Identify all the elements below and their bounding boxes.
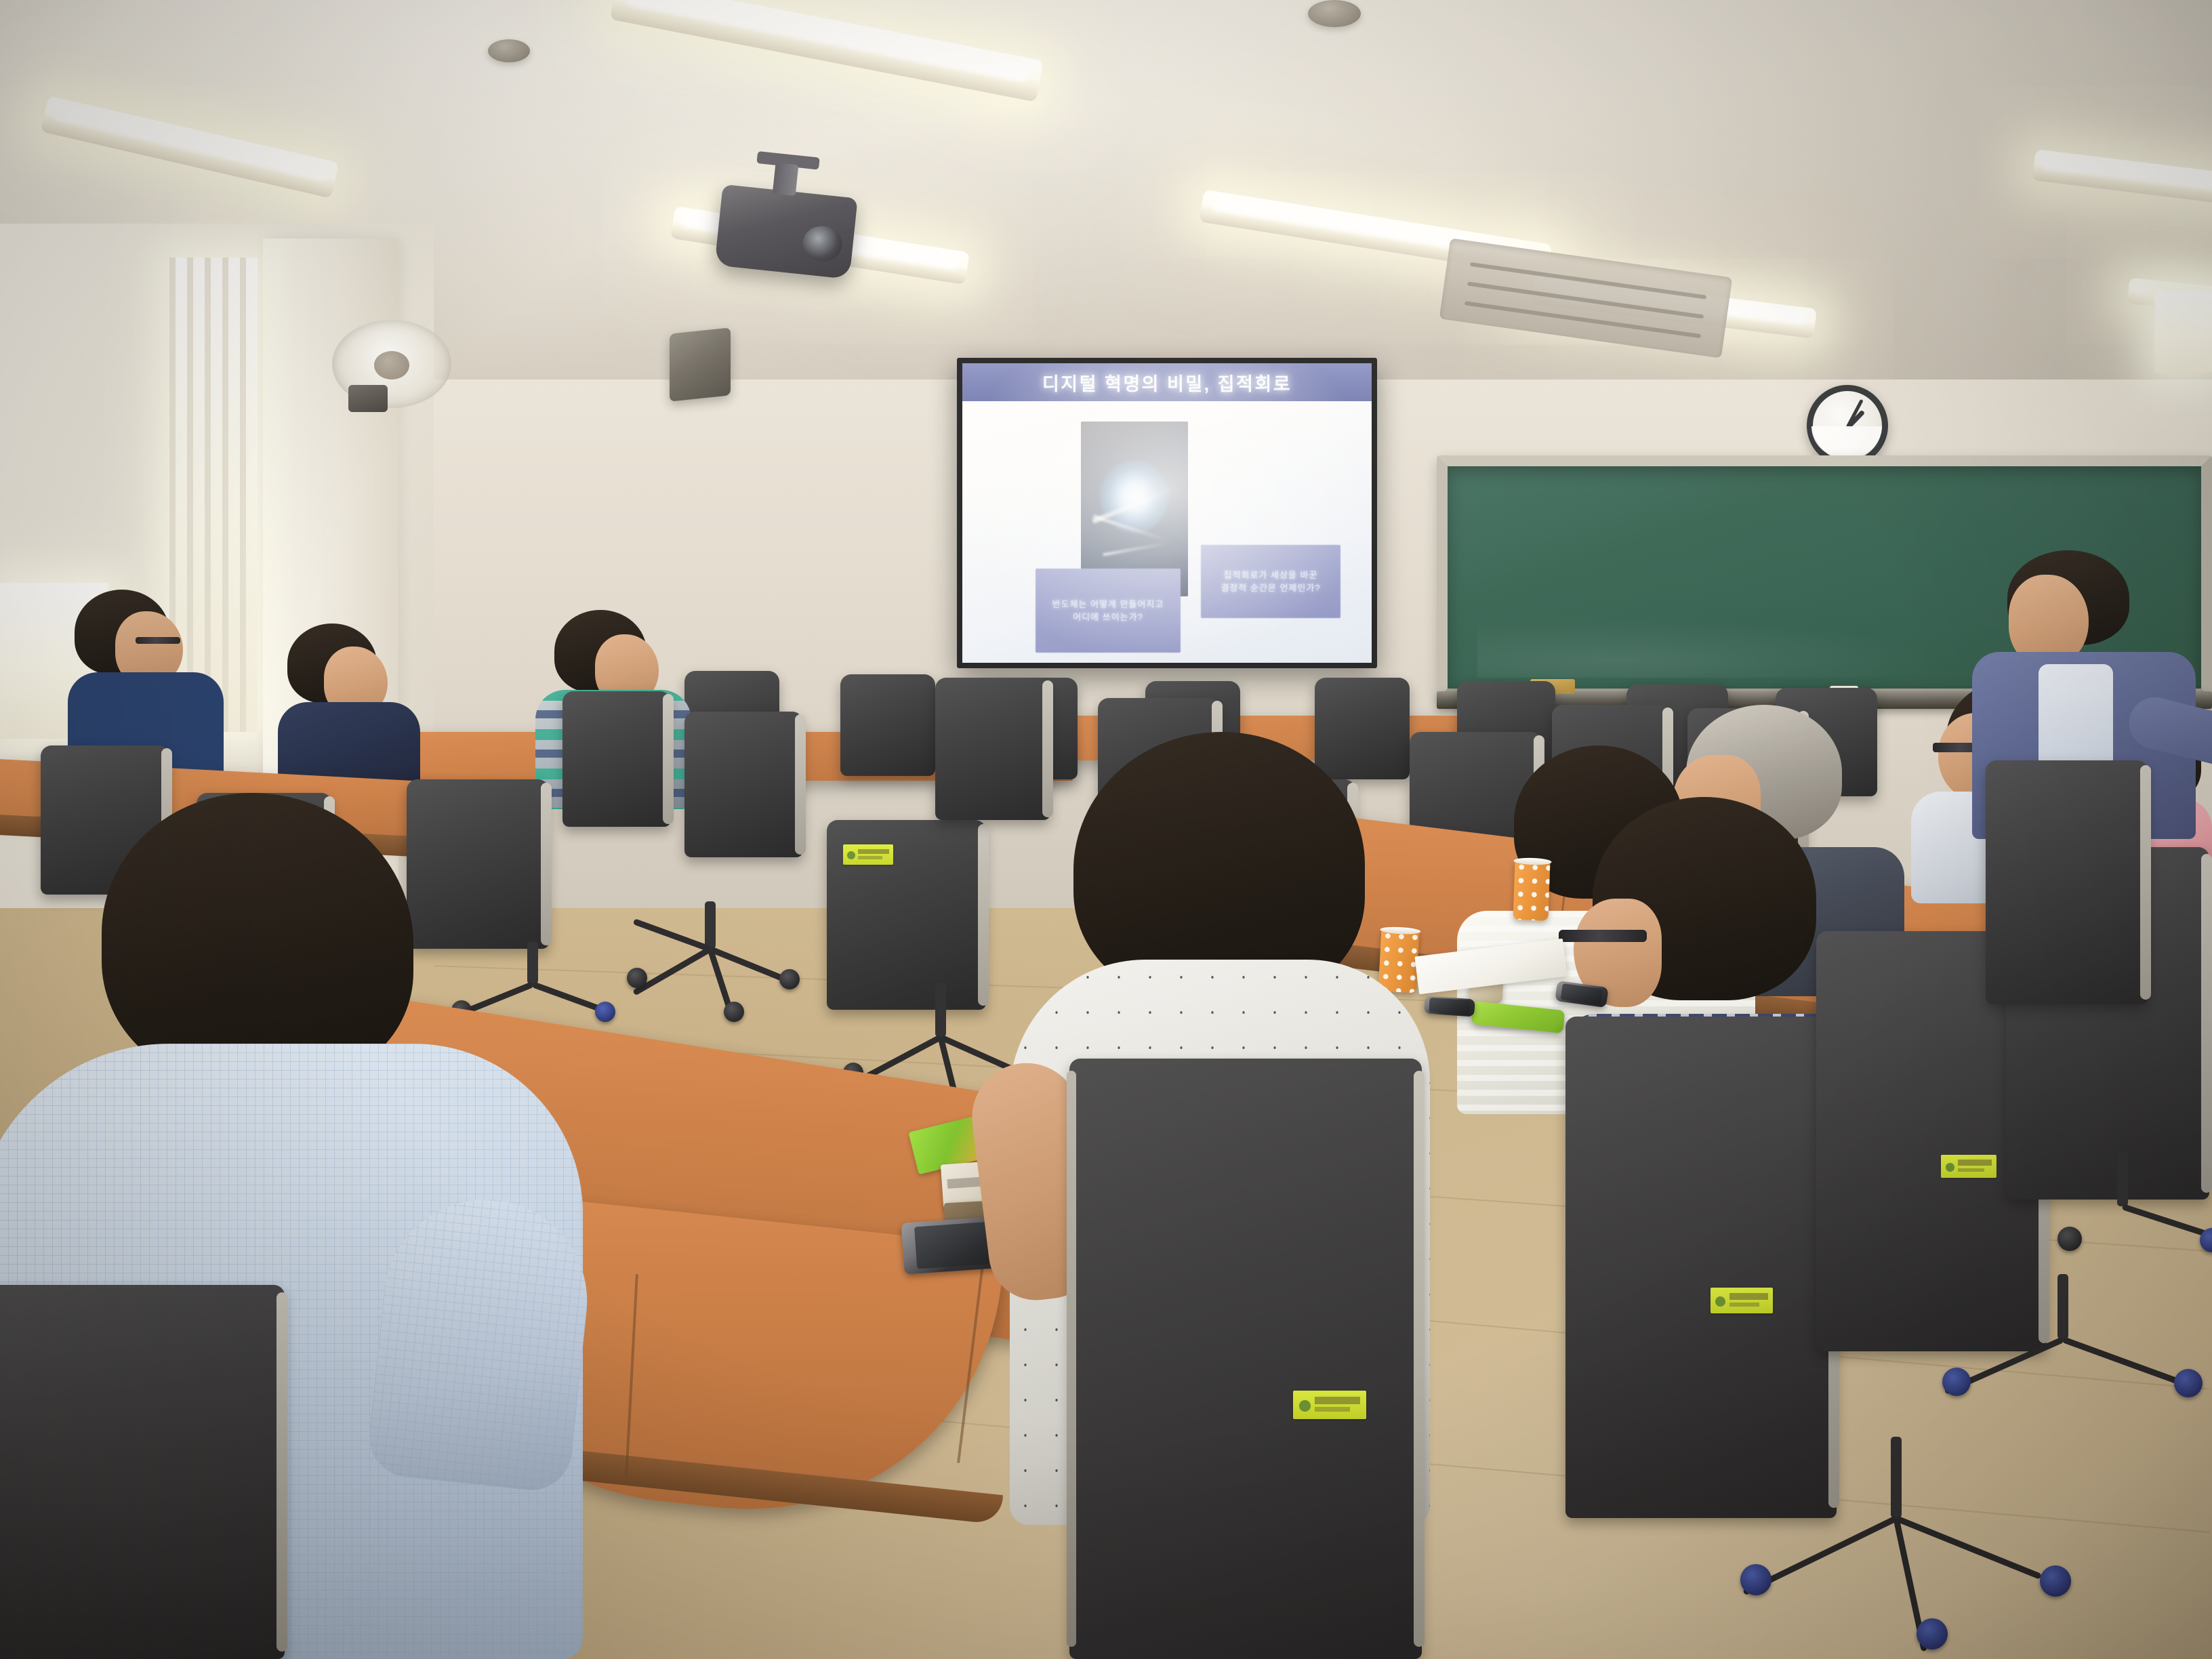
chair-base-right-1 <box>1735 1437 2114 1640</box>
wall-clock <box>1807 385 1888 466</box>
chair-base-1 <box>610 901 813 1010</box>
asset-tag <box>1941 1155 1996 1178</box>
chair-base-right-3 <box>2047 1152 2212 1288</box>
photo-scene: 디지털 혁명의 비밀, 집적회로 반도체는 어떻게 만들어지고 어디에 쓰이는가… <box>0 0 2212 1659</box>
chair-mid-5[interactable] <box>684 712 803 857</box>
chair-base-right-2 <box>1938 1274 2212 1443</box>
chair-back-2[interactable] <box>840 674 935 776</box>
asset-tag <box>843 844 893 865</box>
chair-right-4[interactable] <box>1986 760 2148 1004</box>
glasses-icon <box>136 637 180 644</box>
chair-fg-left[interactable] <box>0 1285 285 1659</box>
chair-fg-center[interactable] <box>1069 1059 1422 1659</box>
asset-tag <box>1293 1391 1366 1419</box>
smoke-detector <box>488 39 530 62</box>
smartphone-right-2 <box>1424 996 1475 1017</box>
clock-glare <box>1811 426 1882 457</box>
smoke-detector-2 <box>1308 0 1361 27</box>
projection-screen: 디지털 혁명의 비밀, 집적회로 반도체는 어떻게 만들어지고 어디에 쓰이는가… <box>957 358 1377 668</box>
asset-tag <box>1711 1288 1773 1313</box>
wall-speaker-icon <box>670 327 731 401</box>
chair-mid-6[interactable] <box>827 820 986 1010</box>
wall-fan-icon <box>332 320 451 415</box>
ceiling-projector <box>714 184 857 279</box>
hair <box>102 793 413 1084</box>
paper-cup-orange-1 <box>1513 860 1550 921</box>
glasses-icon <box>1559 930 1647 942</box>
window-strip-right <box>2155 291 2212 373</box>
presentation-slide: 디지털 혁명의 비밀, 집적회로 반도체는 어떻게 만들어지고 어디에 쓰이는가… <box>962 363 1372 663</box>
